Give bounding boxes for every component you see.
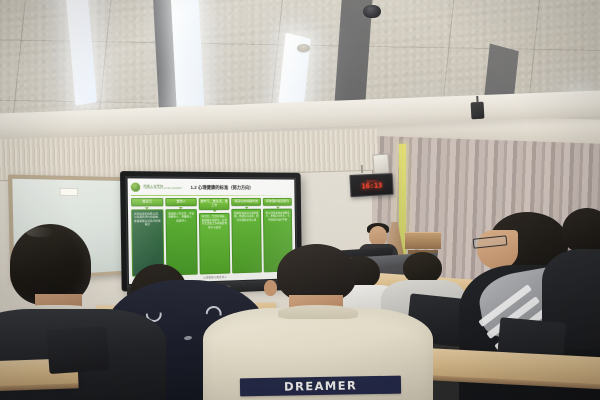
tshirt-collar xyxy=(278,305,357,320)
student-ear xyxy=(264,280,277,296)
tshirt: DREAMER xyxy=(203,308,433,400)
tshirt-print-badge: DREAMER xyxy=(240,376,402,397)
university-logo-icon xyxy=(131,183,141,192)
wall-shelf xyxy=(405,232,441,249)
flow-chip: 有较强的适应能力 xyxy=(263,198,292,206)
slide-header: 成都工业学院 CHENGDU TECHNOLOGICAL UNIVERSITY … xyxy=(128,178,295,194)
university-name-en: CHENGDU TECHNOLOGICAL UNIVERSITY xyxy=(143,188,182,190)
clock-time: 16:13 xyxy=(361,182,382,190)
student-dreamer-shirt: DREAMER xyxy=(228,244,408,400)
flow-chip: 爱学习、爱生活、爱工作 xyxy=(199,198,229,210)
flow-chip: 有良好的情绪状态 xyxy=(231,198,261,206)
wall-speaker-icon xyxy=(471,102,485,120)
classroom-photo: 成都工业学院 CHENGDU TECHNOLOGICAL UNIVERSITY … xyxy=(0,0,600,400)
chair-back xyxy=(47,326,110,374)
slide-title: 1.2 心理健康的标准（努力方向） xyxy=(191,185,254,191)
flow-chip: 爱自己 xyxy=(131,198,163,206)
hair-highlight xyxy=(26,227,54,237)
ceiling-dome-sensor-icon xyxy=(363,5,381,18)
tshirt-print-text: DREAMER xyxy=(284,378,357,393)
flow-chip: 爱他人 xyxy=(165,198,196,206)
wall-speaker-icon xyxy=(373,153,390,174)
university-name: 成都工业学院 CHENGDU TECHNOLOGICAL UNIVERSITY xyxy=(143,185,182,190)
whiteboard-note xyxy=(59,187,77,196)
smoke-detector-icon xyxy=(297,44,310,52)
flow-arrow-icon xyxy=(212,210,216,212)
led-wall-clock: 教室时间 16:13 xyxy=(349,173,393,198)
student-head xyxy=(10,224,91,305)
student-head xyxy=(562,208,600,254)
